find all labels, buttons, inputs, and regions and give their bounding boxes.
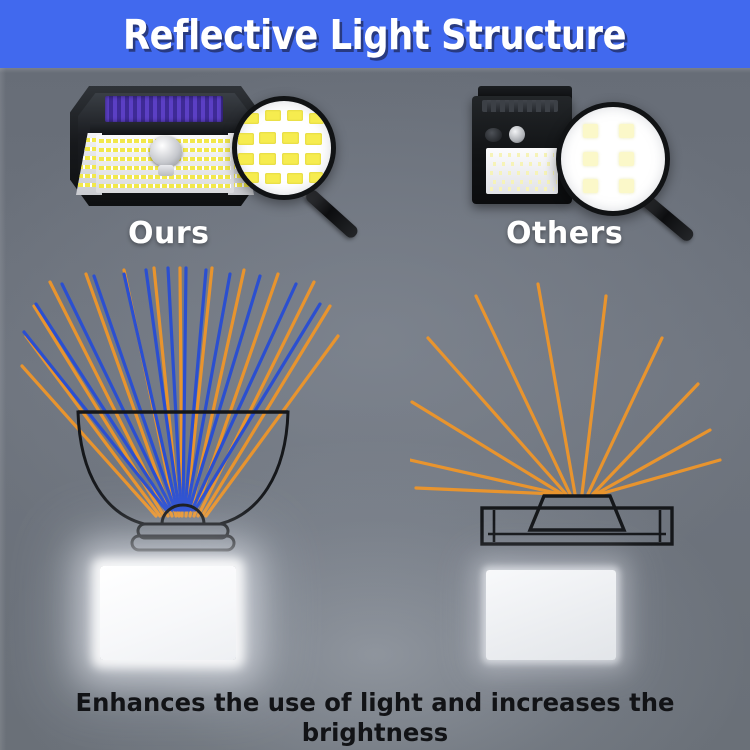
top-edge-highlight xyxy=(0,68,750,73)
solar-panel-ours xyxy=(105,96,223,122)
infographic-page: Reflective Light Structure xyxy=(0,0,750,750)
led-panel-others xyxy=(486,148,558,194)
lamp-base-others-diagram xyxy=(482,508,672,544)
bright-light-panel-ours xyxy=(100,566,236,660)
label-others: Others xyxy=(506,216,623,251)
lamp-housing-others-diagram xyxy=(530,496,624,530)
diagram-ours-reflector xyxy=(20,262,350,552)
left-edge-highlight xyxy=(0,68,6,750)
solar-panel-others xyxy=(482,100,558,112)
header-banner: Reflective Light Structure xyxy=(0,0,750,68)
pir-sensor-ours xyxy=(150,136,182,166)
pir-sensor-base-ours xyxy=(158,165,174,176)
magnifier-lens-others xyxy=(556,102,670,216)
dim-light-panel-others xyxy=(486,570,616,660)
lamp-shade-ours xyxy=(90,122,240,136)
lamp-base-detail-others xyxy=(488,510,666,542)
page-title: Reflective Light Structure xyxy=(123,15,626,56)
label-ours: Ours xyxy=(128,216,210,251)
pir-sensor-others xyxy=(509,126,525,143)
footer-line-1: Enhances the use of light and increases … xyxy=(11,688,739,747)
light-sensor-others xyxy=(485,128,502,142)
footer-caption: Enhances the use of light and increases … xyxy=(11,688,739,750)
magnifier-lens-ours xyxy=(232,96,336,200)
diagram-others-flat xyxy=(410,282,740,552)
scattered-rays-others xyxy=(410,284,720,494)
